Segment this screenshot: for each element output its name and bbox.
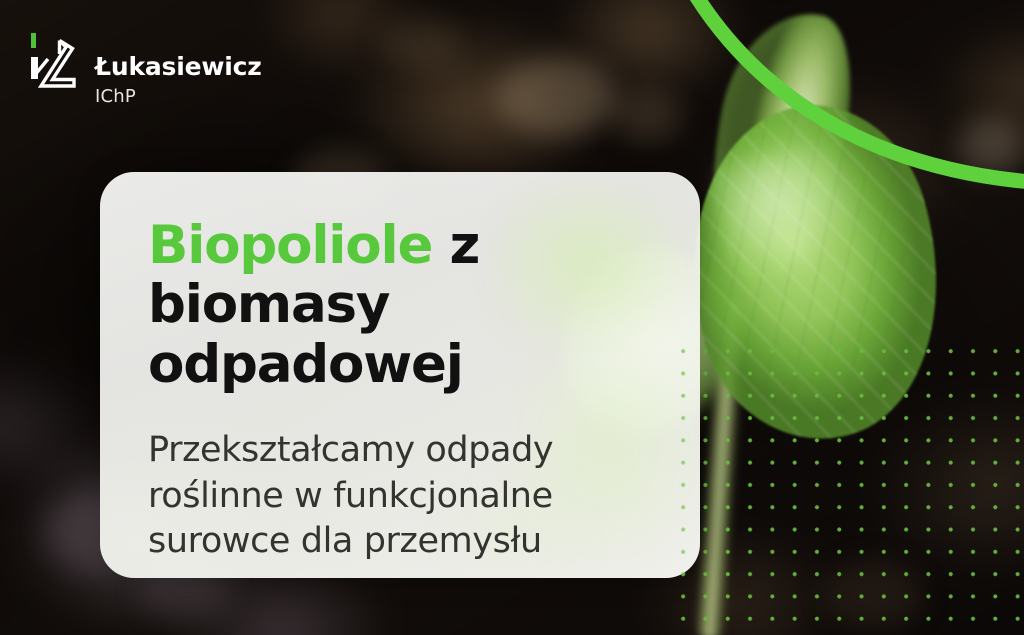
brand-institute: IChP — [95, 88, 262, 106]
bokeh-highlight — [380, 16, 460, 68]
lukasiewicz-l-monogram-icon — [28, 32, 86, 98]
green-dot-grid — [668, 336, 1024, 635]
brand-name: Łukasiewicz — [95, 54, 262, 79]
green-arc-icon — [660, 0, 1024, 200]
brand-logo-text: Łukasiewicz IChP — [95, 32, 262, 106]
green-dot-grid-overlay — [668, 336, 702, 580]
banner-canvas: Biopoliole z biomasy odpadowej Przekszta… — [0, 0, 1024, 635]
content-card: Biopoliole z biomasy odpadowej Przekszta… — [100, 172, 700, 578]
page-subtitle: Przekształcamy odpady roślinne w funkcjo… — [148, 428, 652, 565]
headline-accent-word: Biopoliole — [148, 215, 432, 276]
brand-logo[interactable]: Łukasiewicz IChP — [28, 32, 262, 106]
bokeh-highlight — [496, 58, 616, 136]
page-title: Biopoliole z biomasy odpadowej — [148, 216, 652, 394]
